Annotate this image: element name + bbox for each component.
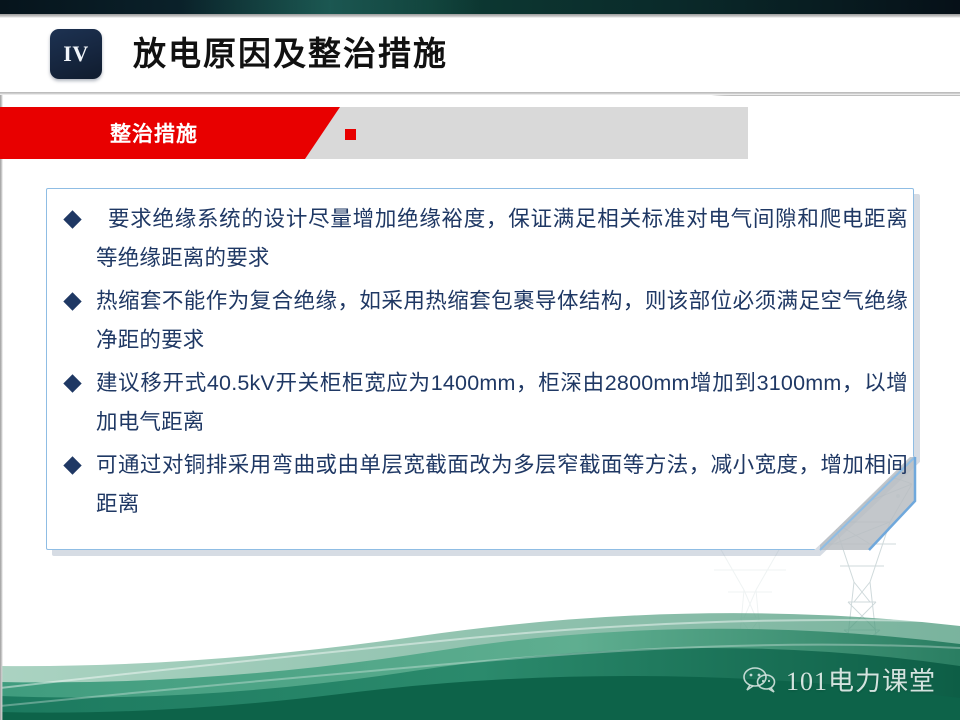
section-bar: 整治措施: [0, 107, 960, 159]
red-square-marker-icon: [345, 129, 356, 140]
diamond-bullet-icon: [63, 292, 81, 310]
diamond-bullet-icon: [63, 456, 81, 474]
wechat-icon: [742, 666, 776, 694]
slide-canvas: 101 电力课堂 IV 放电原因及整治措施 整治措施: [0, 0, 960, 720]
header-divider: [0, 92, 960, 95]
list-item-text: 建议移开式40.5kV开关柜柜宽应为1400mm，柜深由2800mm增加到310…: [96, 364, 908, 442]
list-item: 热缩套不能作为复合绝缘，如采用热缩套包裹导体结构，则该部位必须满足空气绝缘净距的…: [62, 282, 908, 360]
list-item-text: 热缩套不能作为复合绝缘，如采用热缩套包裹导体结构，则该部位必须满足空气绝缘净距的…: [96, 282, 908, 360]
section-number-label: IV: [63, 41, 88, 67]
diamond-bullet-icon: [63, 374, 81, 392]
list-item: 建议移开式40.5kV开关柜柜宽应为1400mm，柜深由2800mm增加到310…: [62, 364, 908, 442]
bullet-list: 要求绝缘系统的设计尽量增加绝缘裕度，保证满足相关标准对电气间隙和爬电距离等绝缘距…: [62, 200, 908, 528]
slide-header: IV 放电原因及整治措施: [0, 18, 960, 92]
list-item-text: 可通过对铜排采用弯曲或由单层宽截面改为多层窄截面等方法，减小宽度，增加相间距离: [96, 446, 908, 524]
section-title: 整治措施: [110, 107, 198, 159]
list-item: 要求绝缘系统的设计尽量增加绝缘裕度，保证满足相关标准对电气间隙和爬电距离等绝缘距…: [62, 200, 908, 278]
top-strip-highlight: [180, 0, 480, 14]
list-item-text: 要求绝缘系统的设计尽量增加绝缘裕度，保证满足相关标准对电气间隙和爬电距离等绝缘距…: [96, 200, 908, 278]
list-item: 可通过对铜排采用弯曲或由单层宽截面改为多层窄截面等方法，减小宽度，增加相间距离: [62, 446, 908, 524]
section-number-badge: IV: [50, 29, 102, 79]
diamond-bullet-icon: [63, 210, 81, 228]
footer-watermark: 101电力课堂: [742, 661, 936, 698]
footer-watermark-text: 101电力课堂: [786, 661, 936, 698]
page-title: 放电原因及整治措施: [133, 30, 448, 78]
top-accent-strip: [0, 0, 960, 14]
